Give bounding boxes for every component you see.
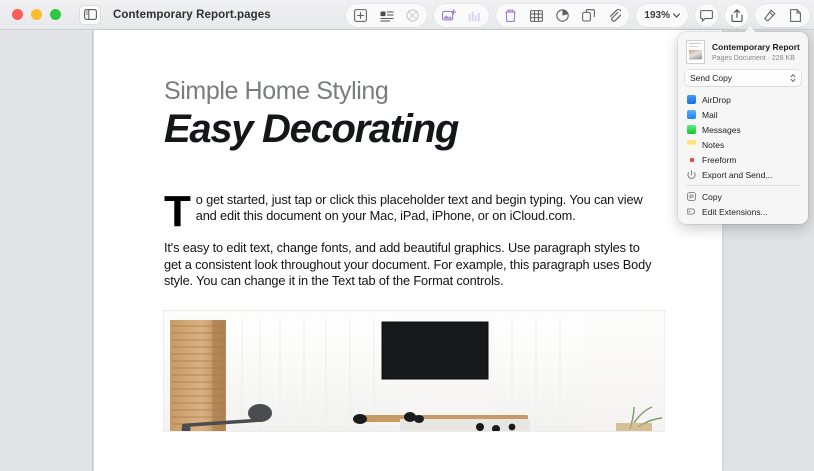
- menu-item-label: Edit Extensions...: [702, 207, 768, 217]
- inspector-group: [755, 4, 810, 27]
- document-page[interactable]: Simple Home Styling Easy Decorating To g…: [94, 30, 722, 471]
- menu-item-mail[interactable]: Mail: [678, 107, 808, 122]
- export-send-icon: [687, 170, 696, 179]
- menu-item-label: Export and Send...: [702, 170, 772, 180]
- format-paintbrush-icon: [763, 9, 776, 22]
- share-popover: Contemporary Report Pages Document · 228…: [678, 32, 808, 224]
- edit-extensions-icon: [687, 207, 696, 216]
- media-icon: [442, 9, 456, 22]
- menu-item-messages[interactable]: Messages: [678, 122, 808, 137]
- add-page-icon: [354, 9, 367, 22]
- menu-item-edit-extensions[interactable]: Edit Extensions...: [678, 204, 808, 219]
- shapes-button[interactable]: [581, 8, 596, 23]
- comment-button[interactable]: [695, 4, 718, 27]
- shapes-icon: [582, 9, 595, 22]
- menu-item-notes[interactable]: Notes: [678, 137, 808, 152]
- menu-item-freeform[interactable]: Freeform: [678, 152, 808, 167]
- send-copy-label: Send Copy: [690, 73, 732, 83]
- menu-item-export-and-send[interactable]: Export and Send...: [678, 167, 808, 182]
- popover-doc-title: Contemporary Report: [712, 42, 800, 53]
- document-body: Simple Home Styling Easy Decorating To g…: [94, 30, 722, 431]
- mail-icon: [687, 110, 696, 119]
- paperclip-button[interactable]: [607, 8, 622, 23]
- toolbar: 193%: [346, 4, 810, 27]
- send-copy-select[interactable]: Send Copy: [685, 70, 801, 86]
- shape-draw-button[interactable]: [503, 8, 518, 23]
- table-icon: [530, 10, 543, 22]
- document-button[interactable]: [788, 8, 803, 23]
- chevron-down-icon: [673, 13, 680, 18]
- zoom-button[interactable]: [50, 9, 61, 20]
- document-headline: Easy Decorating: [164, 108, 660, 150]
- pie-chart-icon: [556, 9, 569, 22]
- popover-header: Contemporary Report Pages Document · 228…: [678, 37, 808, 70]
- text-box-icon: [380, 10, 394, 22]
- menu-item-label: Mail: [702, 110, 718, 120]
- pages-window: Contemporary Report.pages: [0, 0, 814, 471]
- paragraph-2[interactable]: It's easy to edit text, change fonts, an…: [164, 240, 660, 289]
- document-photo[interactable]: [164, 311, 664, 431]
- copy-icon: [687, 192, 696, 201]
- zoom-control[interactable]: 193%: [636, 4, 688, 27]
- menu-separator: [686, 185, 800, 186]
- media-group: [434, 4, 489, 27]
- paperclip-icon: [608, 9, 621, 22]
- freeform-icon: [687, 155, 696, 164]
- table-button[interactable]: [529, 8, 544, 23]
- up-down-chevron-icon: [790, 73, 796, 83]
- menu-item-label: Messages: [702, 125, 741, 135]
- comment-icon: [700, 10, 713, 22]
- document-thumbnail: [686, 40, 705, 64]
- share-icon: [731, 9, 743, 22]
- window-title: Contemporary Report.pages: [113, 9, 271, 21]
- interior-room-photo: [164, 311, 664, 431]
- close-button[interactable]: [12, 9, 23, 20]
- text-box-button[interactable]: [379, 8, 394, 23]
- chart-bars-icon: [468, 10, 481, 22]
- title-bar: Contemporary Report.pages: [0, 0, 814, 30]
- menu-item-label: AirDrop: [702, 95, 731, 105]
- minimize-button[interactable]: [31, 9, 42, 20]
- add-page-button[interactable]: [353, 8, 368, 23]
- format-button[interactable]: [762, 8, 777, 23]
- page-thumbnails-pane[interactable]: [0, 30, 93, 471]
- insert-group: [346, 4, 427, 27]
- messages-icon: [687, 125, 696, 134]
- document-eyebrow: Simple Home Styling: [164, 78, 660, 106]
- traffic-lights: [12, 9, 61, 20]
- zoom-level-label: 193%: [644, 10, 670, 21]
- media-button[interactable]: [441, 8, 456, 23]
- popover-doc-subtitle: Pages Document · 228 KB: [712, 55, 800, 62]
- sidebar-icon: [84, 9, 97, 20]
- sidebar-toggle-button[interactable]: [79, 5, 101, 25]
- document-paragraphs: To get started, just tap or click this p…: [164, 192, 660, 290]
- shape-button[interactable]: [405, 8, 420, 23]
- menu-item-copy[interactable]: Copy: [678, 189, 808, 204]
- menu-item-label: Freeform: [702, 155, 736, 165]
- shape-icon: [406, 9, 419, 22]
- shape-draw-icon: [505, 9, 516, 22]
- share-button[interactable]: [725, 4, 748, 27]
- airdrop-icon: [687, 95, 696, 104]
- menu-item-label: Notes: [702, 140, 724, 150]
- chart-bars-button[interactable]: [467, 8, 482, 23]
- pie-chart-button[interactable]: [555, 8, 570, 23]
- menu-item-label: Copy: [702, 192, 722, 202]
- object-group: [496, 4, 629, 27]
- menu-item-airdrop[interactable]: AirDrop: [678, 92, 808, 107]
- notes-icon: [687, 140, 696, 149]
- paragraph-1[interactable]: To get started, just tap or click this p…: [164, 192, 660, 225]
- document-icon: [790, 9, 801, 22]
